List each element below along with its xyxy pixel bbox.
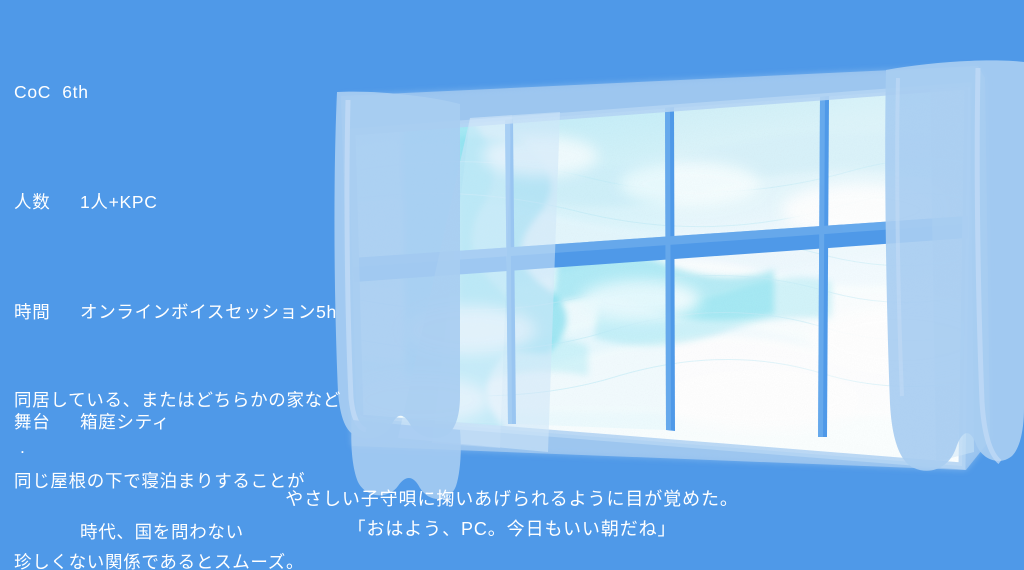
spec-row-time: 時間オンラインボイスセッション5h bbox=[14, 299, 343, 327]
spec-label-players: 人数 bbox=[14, 189, 80, 217]
trailing-dot: . bbox=[20, 437, 25, 457]
scenario-caption: やさしい子守唄に掬いあげられるように目が覚めた。 「おはよう、PC。今日もいい朝… bbox=[0, 484, 1024, 544]
blurb-line-3: 珍しくない関係であるとスムーズ。 bbox=[14, 549, 341, 570]
spec-title: CoC 6th bbox=[14, 79, 343, 107]
blurb-line-1: 同居している、またはどちらかの家など bbox=[14, 387, 341, 414]
caption-line-1: やさしい子守唄に掬いあげられるように目が覚めた。 bbox=[0, 484, 1024, 514]
curtain-right bbox=[885, 60, 1024, 470]
spec-row-players: 人数1人+KPC bbox=[14, 189, 343, 217]
spec-label-time: 時間 bbox=[14, 299, 80, 327]
caption-line-2: 「おはよう、PC。今日もいい朝だね」 bbox=[0, 514, 1024, 544]
spec-value-players: 1人+KPC bbox=[80, 192, 158, 212]
scenario-card: CoC 6th 人数1人+KPC 時間オンラインボイスセッション5h 舞台箱庭シ… bbox=[0, 0, 1024, 570]
curtain-left bbox=[334, 92, 460, 439]
spec-value-time: オンラインボイスセッション5h bbox=[80, 302, 337, 322]
